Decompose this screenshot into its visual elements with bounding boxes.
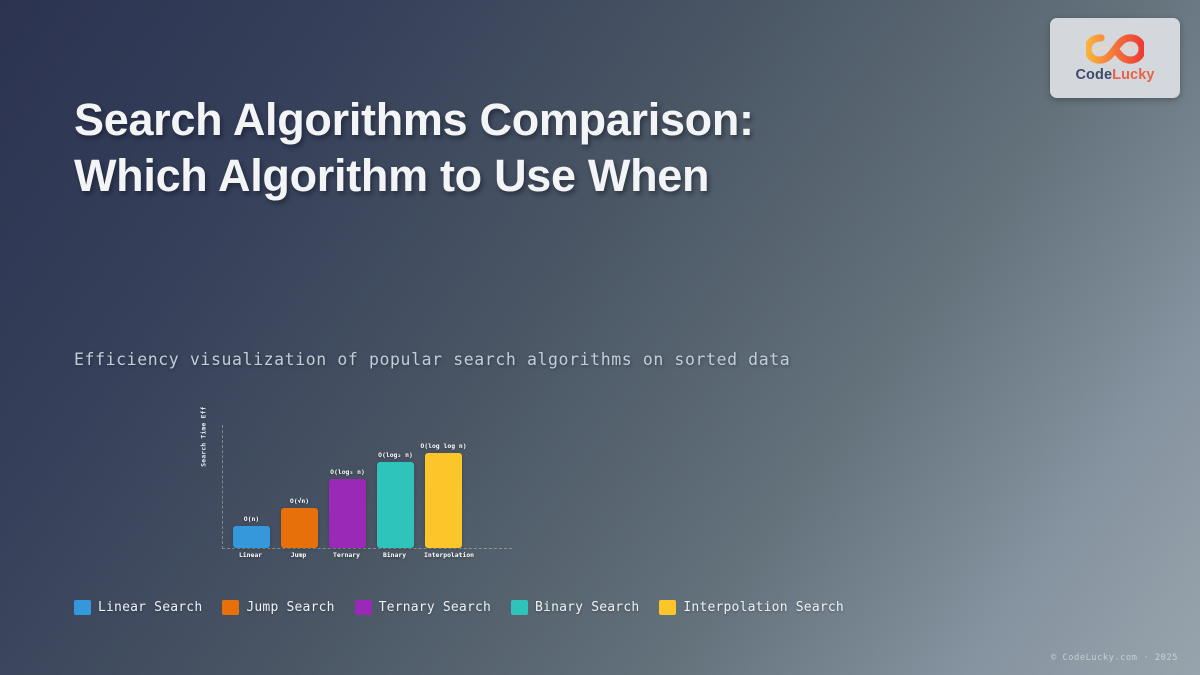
page-title: Search Algorithms Comparison: Which Algo… (74, 92, 834, 204)
brand-logo-text: CodeLucky (1075, 67, 1154, 83)
infinity-leaf-logo-icon (1086, 34, 1144, 64)
chart-bar-group[interactable]: O(log₂ n) (377, 451, 414, 548)
chart-bar-value-label: O(log₃ n) (330, 468, 365, 476)
chart-bar-value-label: O(log log n) (420, 442, 466, 450)
chart-bar-value-label: O(log₂ n) (378, 451, 413, 459)
chart-bar-value-label: O(√n) (290, 497, 309, 505)
chart-bar-value-label: O(n) (244, 515, 259, 523)
chart-y-axis-label: Search Time Eff (201, 397, 208, 477)
chart-x-label: Jump (280, 551, 317, 559)
legend-color-swatch (74, 600, 91, 615)
legend-color-swatch (222, 600, 239, 615)
chart-bar[interactable] (377, 462, 414, 548)
brand-name-code: Code (1075, 67, 1112, 83)
brand-logo-badge: CodeLucky (1050, 18, 1180, 98)
legend-label: Ternary Search (379, 600, 491, 615)
legend-item[interactable]: Jump Search (222, 600, 334, 615)
legend-item[interactable]: Binary Search (511, 600, 639, 615)
chart-x-label: Ternary (328, 551, 365, 559)
chart-bar-group[interactable]: O(√n) (281, 497, 318, 548)
legend-label: Binary Search (535, 600, 639, 615)
brand-name-lucky: Lucky (1112, 67, 1154, 83)
chart-bar[interactable] (281, 508, 318, 548)
legend-color-swatch (659, 600, 676, 615)
legend-label: Linear Search (98, 600, 202, 615)
chart-bar[interactable] (329, 479, 366, 548)
chart-plot-area: O(n)O(√n)O(log₃ n)O(log₂ n)O(log log n) (222, 425, 512, 549)
legend-label: Jump Search (246, 600, 334, 615)
legend-item[interactable]: Linear Search (74, 600, 202, 615)
legend-item[interactable]: Interpolation Search (659, 600, 844, 615)
slide-canvas: CodeLucky Search Algorithms Comparison: … (0, 0, 1200, 675)
chart-legend: Linear SearchJump SearchTernary SearchBi… (74, 600, 844, 615)
legend-label: Interpolation Search (683, 600, 844, 615)
chart-bars: O(n)O(√n)O(log₃ n)O(log₂ n)O(log log n) (223, 424, 512, 548)
footer-copyright: © CodeLucky.com · 2025 (1051, 653, 1178, 663)
chart-x-axis-labels: LinearJumpTernaryBinaryInterpolation (222, 551, 512, 559)
chart-x-label: Binary (376, 551, 413, 559)
chart-bar-group[interactable]: O(n) (233, 515, 270, 548)
chart-bar-group[interactable]: O(log₃ n) (329, 468, 366, 548)
legend-color-swatch (355, 600, 372, 615)
chart-x-label: Interpolation (424, 551, 461, 559)
page-subtitle: Efficiency visualization of popular sear… (74, 350, 790, 369)
chart-bar[interactable] (425, 453, 462, 548)
legend-color-swatch (511, 600, 528, 615)
chart-x-label: Linear (232, 551, 269, 559)
legend-item[interactable]: Ternary Search (355, 600, 491, 615)
chart-bar[interactable] (233, 526, 270, 548)
search-algorithms-bar-chart: Search Time Eff O(n)O(√n)O(log₃ n)O(log₂… (186, 405, 531, 570)
chart-bar-group[interactable]: O(log log n) (425, 442, 462, 548)
